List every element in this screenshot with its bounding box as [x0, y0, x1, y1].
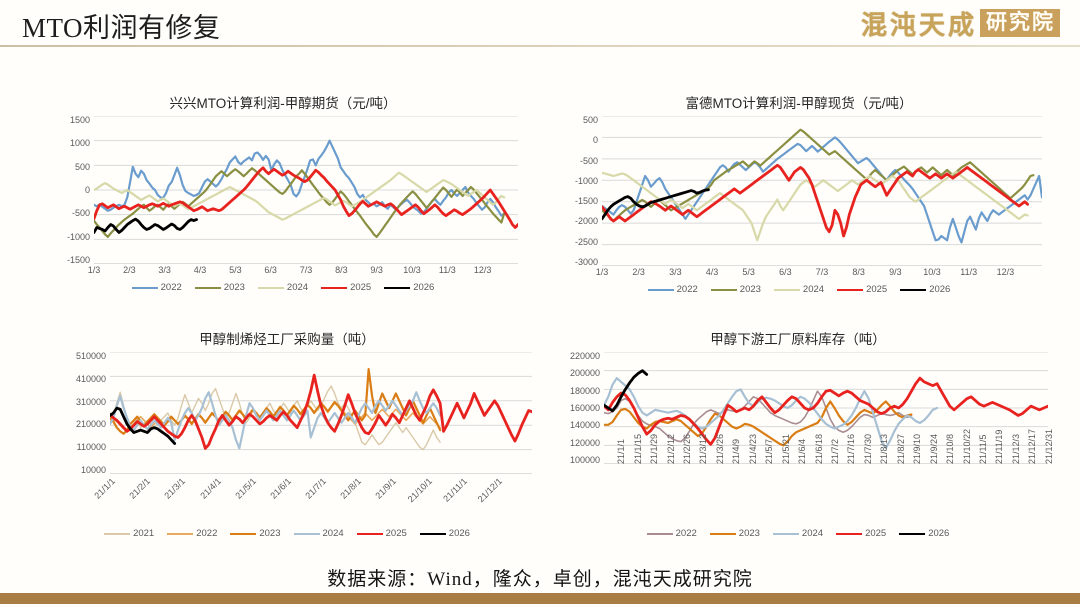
y-tick-label: -1000 — [575, 176, 598, 186]
x-tick-label: 21/7/30 — [863, 434, 873, 464]
y-tick-label: 140000 — [570, 420, 600, 430]
legend-label: 2024 — [287, 282, 308, 293]
legend-swatch — [230, 533, 256, 535]
y-tick-label: -1000 — [67, 232, 90, 242]
legend-swatch — [774, 289, 800, 291]
x-tick-label: 1/3 — [88, 265, 101, 275]
legend-swatch — [710, 533, 736, 535]
y-tick-label: -1500 — [575, 196, 598, 206]
chart-legend: 20222023202420252026 — [556, 284, 1042, 295]
x-tick-label: 21/1/1 — [92, 476, 117, 501]
legend-swatch — [647, 533, 673, 535]
legend-swatch — [258, 287, 284, 289]
x-tick-label: 21/4/1 — [198, 476, 223, 501]
legend-item-2022[interactable]: 2022 — [647, 528, 697, 539]
legend-item-2025[interactable]: 2025 — [837, 284, 887, 295]
x-tick-label: 6/3 — [264, 265, 277, 275]
legend-item-2023[interactable]: 2023 — [710, 528, 760, 539]
legend-item-2024[interactable]: 2024 — [773, 528, 823, 539]
legend-item-2025[interactable]: 2025 — [836, 528, 886, 539]
x-tick-label: 7/3 — [816, 267, 829, 277]
series-line-2026 — [94, 219, 197, 232]
y-tick-label: 500 — [583, 115, 598, 125]
x-tick-label: 21/2/12 — [666, 434, 676, 464]
x-tick-label: 21/3/1 — [163, 476, 188, 501]
x-axis-labels: 1/32/33/34/35/36/37/38/39/310/311/312/3 — [48, 264, 518, 280]
legend-item-2022[interactable]: 2022 — [167, 528, 217, 539]
x-tick-label: 21/8/13 — [879, 434, 889, 464]
legend-swatch — [195, 287, 221, 289]
data-source-note: 数据来源：Wind，隆众，卓创，混沌天成研究院 — [0, 564, 1080, 591]
x-tick-label: 7/3 — [300, 265, 313, 275]
x-tick-label: 3/3 — [158, 265, 171, 275]
chart-downstream-inventory: 甲醇下游工厂原料库存（吨） 22000020000018000016000014… — [548, 328, 1048, 558]
x-tick-label: 6/3 — [779, 267, 792, 277]
x-tick-label: 3/3 — [669, 267, 682, 277]
x-tick-label: 21/7/1 — [303, 476, 328, 501]
y-tick-label: 110000 — [77, 442, 106, 452]
legend-label: 2024 — [802, 528, 823, 539]
legend-item-2025[interactable]: 2025 — [321, 282, 371, 293]
legend-item-2024[interactable]: 2024 — [774, 284, 824, 295]
x-tick-label: 21/7/16 — [846, 434, 856, 464]
legend-label: 2025 — [865, 528, 886, 539]
legend-label: 2024 — [803, 284, 824, 295]
x-tick-label: 21/7/2 — [830, 439, 840, 464]
y-tick-label: 510000 — [76, 351, 106, 361]
y-tick-label: -500 — [72, 208, 90, 218]
x-tick-label: 21/9/1 — [374, 476, 399, 501]
legend-swatch — [321, 287, 347, 289]
footer-accent-bar — [0, 593, 1080, 604]
x-axis-labels: 21/1/121/1/1521/1/2921/2/1221/2/2621/3/1… — [548, 464, 1048, 526]
legend-label: 2025 — [386, 528, 407, 539]
x-tick-label: 8/3 — [852, 267, 865, 277]
legend-label: 2022 — [196, 528, 217, 539]
legend-swatch — [773, 533, 799, 535]
series-line-2025 — [602, 165, 1028, 236]
legend-label: 2025 — [350, 282, 371, 293]
chart-title: 甲醇下游工厂原料库存（吨） — [548, 328, 1048, 348]
x-tick-label: 2/3 — [632, 267, 645, 277]
series-line-2022 — [602, 137, 1042, 242]
x-tick-label: 21/6/4 — [797, 439, 807, 464]
x-tick-label: 12/3 — [997, 267, 1015, 277]
legend-swatch — [104, 533, 130, 535]
legend-label: 2023 — [740, 284, 761, 295]
y-tick-label: -2000 — [575, 216, 598, 226]
x-tick-label: 21/11/5 — [978, 435, 988, 464]
y-tick-label: 1500 — [70, 115, 90, 125]
legend-label: 2023 — [739, 528, 760, 539]
legend-item-2026[interactable]: 2026 — [900, 284, 950, 295]
x-tick-label: 12/3 — [474, 265, 492, 275]
x-tick-label: 21/2/26 — [682, 434, 692, 464]
chart-title: 富德MTO计算利润-甲醇现货（元/吨） — [556, 92, 1042, 112]
x-tick-label: 21/5/21 — [781, 434, 791, 464]
x-tick-label: 21/11/19 — [994, 430, 1004, 464]
x-axis-labels: 1/32/33/34/35/36/37/38/39/310/311/312/3 — [556, 266, 1042, 282]
x-tick-label: 21/8/1 — [338, 476, 363, 501]
y-tick-label: 180000 — [570, 386, 600, 396]
x-tick-label: 4/3 — [706, 267, 719, 277]
x-tick-label: 21/11/1 — [441, 476, 469, 504]
series-line-2023 — [602, 130, 1033, 221]
x-tick-label: 21/5/1 — [233, 476, 258, 501]
legend-swatch — [357, 533, 383, 535]
legend-label: 2026 — [449, 528, 470, 539]
y-tick-label: 310000 — [76, 397, 106, 407]
legend-swatch — [836, 533, 862, 535]
legend-item-2023[interactable]: 2023 — [711, 284, 761, 295]
y-axis-labels: 2200002000001800001600001400001200001000… — [548, 352, 604, 464]
plot-area: 5000-500-1000-1500-2000-2500-3000 — [556, 116, 1042, 266]
y-tick-label: 0 — [593, 135, 598, 145]
legend-swatch — [900, 289, 926, 291]
x-tick-label: 21/10/8 — [945, 434, 955, 464]
x-tick-label: 21/6/18 — [814, 434, 824, 464]
legend-item-2026[interactable]: 2026 — [384, 282, 434, 293]
legend-item-2024[interactable]: 2024 — [294, 528, 344, 539]
x-tick-label: 21/1/29 — [649, 434, 659, 464]
legend-label: 2024 — [323, 528, 344, 539]
chart-title: 甲醇制烯烃工厂采购量（吨） — [42, 328, 532, 348]
x-tick-label: 21/4/23 — [748, 434, 758, 464]
x-tick-label: 9/3 — [370, 265, 383, 275]
x-tick-label: 8/3 — [335, 265, 348, 275]
x-tick-label: 5/3 — [229, 265, 242, 275]
y-tick-label: 120000 — [570, 438, 600, 448]
x-tick-label: 2/3 — [123, 265, 136, 275]
legend-label: 2022 — [677, 284, 698, 295]
legend-label: 2022 — [676, 528, 697, 539]
x-tick-label: 21/3/12 — [698, 434, 708, 464]
y-tick-label: 410000 — [76, 374, 106, 384]
legend-label: 2025 — [866, 284, 887, 295]
x-tick-label: 11/3 — [960, 267, 977, 277]
legend-swatch — [420, 533, 446, 535]
legend-swatch — [711, 289, 737, 291]
plot-canvas — [602, 116, 1042, 266]
x-tick-label: 21/2/1 — [127, 476, 152, 501]
legend-item-2023[interactable]: 2023 — [195, 282, 245, 293]
brand-logo: 混沌天成 研究院 — [861, 5, 1060, 41]
legend-swatch — [648, 289, 674, 291]
logo-wordmark: 混沌天成 — [861, 5, 977, 42]
x-tick-label: 21/10/1 — [405, 476, 433, 504]
legend-item-2022[interactable]: 2022 — [132, 282, 182, 293]
x-tick-label: 21/9/10 — [912, 434, 922, 464]
legend-swatch — [899, 533, 925, 535]
y-tick-label: 220000 — [570, 351, 600, 361]
slide-header: MTO利润有修复 混沌天成 研究院 — [0, 0, 1080, 46]
x-tick-label: 1/3 — [596, 267, 609, 277]
legend-label: 2022 — [161, 282, 182, 293]
x-tick-label: 4/3 — [194, 265, 207, 275]
plot-area: 51000041000031000021000011000010000 — [42, 352, 532, 474]
chart-legend: 20222023202420252026 — [548, 528, 1048, 539]
header-divider — [0, 45, 1080, 47]
y-axis-labels: 5000-500-1000-1500-2000-2500-3000 — [556, 116, 602, 266]
x-tick-label: 21/12/17 — [1027, 429, 1037, 464]
legend-item-2024[interactable]: 2024 — [258, 282, 308, 293]
legend-label: 2026 — [928, 528, 949, 539]
legend-swatch — [384, 287, 410, 289]
x-tick-label: 10/3 — [403, 265, 421, 275]
legend-label: 2021 — [133, 528, 154, 539]
x-tick-label: 21/5/7 — [764, 439, 774, 464]
page-title: MTO利润有修复 — [22, 6, 221, 45]
chart-legend: 20222023202420252026 — [48, 282, 518, 293]
legend-label: 2023 — [224, 282, 245, 293]
legend-item-2025[interactable]: 2025 — [357, 528, 407, 539]
y-tick-label: 210000 — [76, 419, 106, 429]
x-tick-label: 21/6/1 — [268, 476, 293, 501]
y-tick-label: 1000 — [70, 138, 90, 148]
x-tick-label: 21/12/31 — [1044, 429, 1054, 464]
x-tick-label: 10/3 — [923, 267, 941, 277]
x-tick-label: 21/4/9 — [731, 439, 741, 464]
y-axis-labels: 150010005000-500-1000-1500 — [48, 116, 94, 264]
plot-canvas — [110, 352, 532, 474]
logo-institute-badge: 研究院 — [980, 9, 1060, 37]
x-tick-label: 21/12/1 — [476, 476, 504, 504]
x-tick-label: 21/3/26 — [715, 434, 725, 464]
y-tick-label: 160000 — [570, 403, 600, 413]
x-tick-label: 11/3 — [439, 265, 456, 275]
legend-item-2023[interactable]: 2023 — [230, 528, 280, 539]
legend-item-2026[interactable]: 2026 — [420, 528, 470, 539]
chart-title: 兴兴MTO计算利润-甲醇期货（元/吨） — [48, 92, 518, 112]
y-tick-label: -500 — [580, 156, 598, 166]
legend-item-2022[interactable]: 2022 — [648, 284, 698, 295]
chart-fude-mto-profit: 富德MTO计算利润-甲醇现货（元/吨） 5000-500-1000-1500-2… — [556, 92, 1042, 307]
x-tick-label: 9/3 — [889, 267, 902, 277]
plot-canvas — [94, 116, 518, 264]
legend-swatch — [132, 287, 158, 289]
legend-swatch — [294, 533, 320, 535]
legend-swatch — [837, 289, 863, 291]
y-axis-labels: 51000041000031000021000011000010000 — [42, 352, 110, 474]
x-tick-label: 21/8/27 — [896, 434, 906, 464]
chart-mto-plant-purchase: 甲醇制烯烃工厂采购量（吨） 51000041000031000021000011… — [42, 328, 532, 553]
y-tick-label: 500 — [75, 162, 90, 172]
y-tick-label: 200000 — [570, 368, 600, 378]
legend-label: 2023 — [259, 528, 280, 539]
x-tick-label: 21/9/24 — [929, 434, 939, 464]
x-tick-label: 21/1/1 — [616, 439, 626, 464]
y-tick-label: 0 — [85, 185, 90, 195]
plot-area: 150010005000-500-1000-1500 — [48, 116, 518, 264]
x-tick-label: 5/3 — [742, 267, 755, 277]
legend-label: 2026 — [413, 282, 434, 293]
slide-root: MTO利润有修复 混沌天成 研究院 兴兴MTO计算利润-甲醇期货（元/吨） 15… — [0, 0, 1080, 608]
legend-item-2021[interactable]: 2021 — [104, 528, 154, 539]
legend-swatch — [167, 533, 193, 535]
x-axis-labels: 21/1/121/2/121/3/121/4/121/5/121/6/121/7… — [42, 474, 532, 522]
legend-item-2026[interactable]: 2026 — [899, 528, 949, 539]
x-tick-label: 21/1/15 — [633, 434, 643, 464]
x-tick-label: 21/12/3 — [1011, 434, 1021, 464]
chart-legend: 202120222023202420252026 — [42, 528, 532, 539]
y-tick-label: -2500 — [575, 237, 598, 247]
chart-xingxing-mto-profit: 兴兴MTO计算利润-甲醇期货（元/吨） 150010005000-500-100… — [48, 92, 518, 302]
x-tick-label: 21/10/22 — [962, 429, 972, 464]
legend-label: 2026 — [929, 284, 950, 295]
